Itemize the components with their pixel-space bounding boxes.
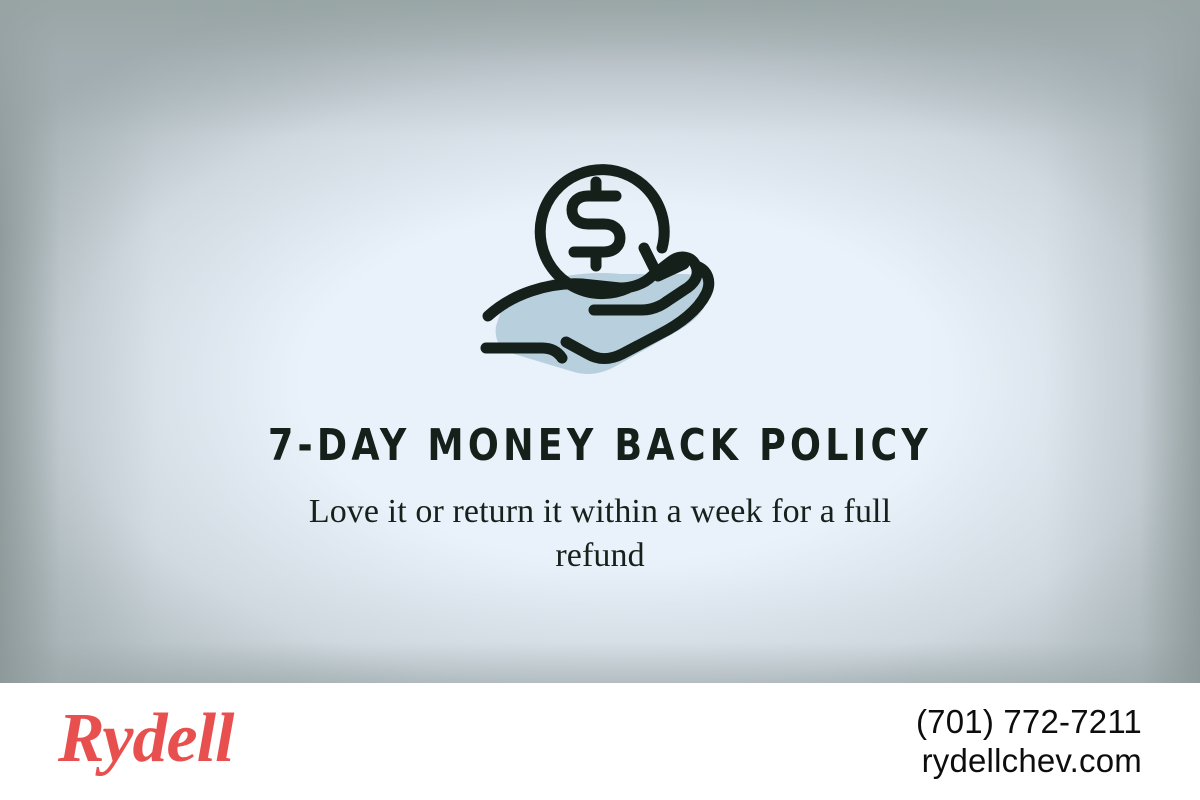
contact-info: (701) 772-7211 rydellchev.com [916,703,1142,781]
page-subtitle: Love it or return it within a week for a… [260,490,940,578]
hero-panel: 7-DAY MONEY BACK POLICY Love it or retur… [0,0,1200,683]
footer-bar: Rydell (701) 772-7211 rydellchev.com [0,683,1200,800]
page-title: 7-DAY MONEY BACK POLICY [48,424,1152,468]
phone-number[interactable]: (701) 772-7211 [916,703,1142,742]
website-url[interactable]: rydellchev.com [916,742,1142,781]
hero-text-block: 7-DAY MONEY BACK POLICY Love it or retur… [0,424,1200,578]
hero-vignette-edges [0,0,1200,683]
promo-poster: 7-DAY MONEY BACK POLICY Love it or retur… [0,0,1200,800]
rydell-logo[interactable]: Rydell [58,704,233,780]
